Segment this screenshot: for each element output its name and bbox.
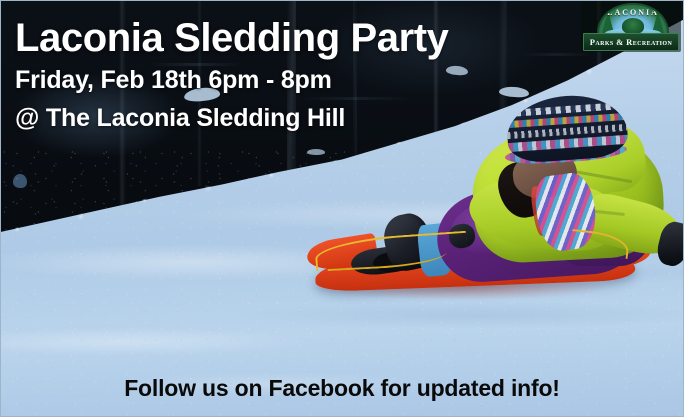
event-poster: Laconia Sledding Party Friday, Feb 18th … bbox=[0, 0, 684, 417]
logo-emblem-text: LACONIA bbox=[599, 8, 667, 17]
logo-banner: Parks & Recreation bbox=[583, 33, 679, 51]
page-title: Laconia Sledding Party bbox=[15, 17, 449, 59]
poster-text-block: Laconia Sledding Party Friday, Feb 18th … bbox=[15, 17, 449, 132]
blue-light-flare bbox=[13, 174, 27, 188]
event-location: @ The Laconia Sledding Hill bbox=[15, 104, 449, 132]
laconia-parks-recreation-logo: LACONIA Parks & Recreation bbox=[583, 3, 679, 51]
patterned-knit-beanie bbox=[505, 92, 629, 164]
logo-banner-text: Parks & Recreation bbox=[590, 37, 672, 47]
facebook-call-to-action: Follow us on Facebook for updated info! bbox=[1, 375, 683, 402]
event-datetime: Friday, Feb 18th 6pm - 8pm bbox=[15, 66, 449, 94]
deciduous-tree-icon bbox=[622, 18, 644, 34]
